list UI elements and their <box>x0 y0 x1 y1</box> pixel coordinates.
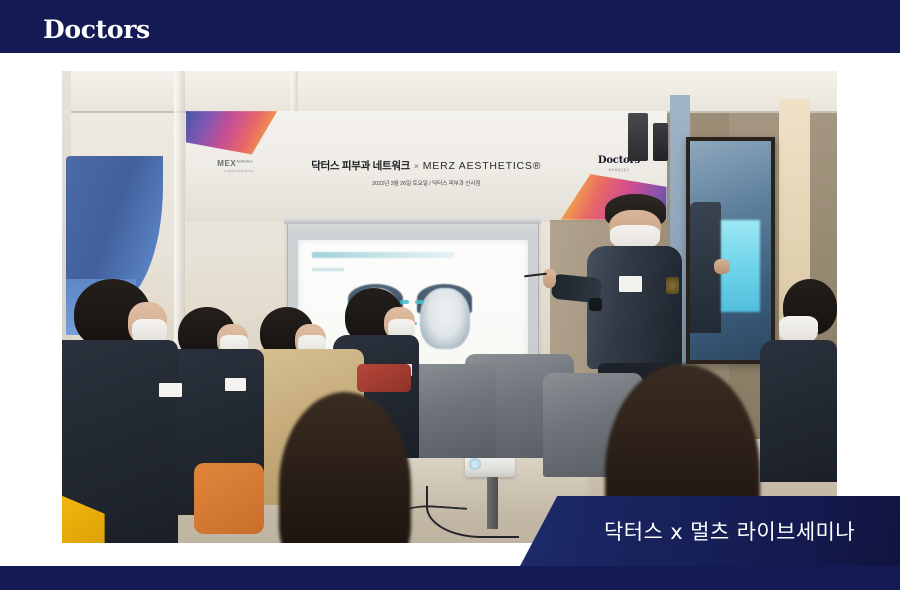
audience-name-badge <box>225 378 247 391</box>
slide-marker-2 <box>415 300 424 303</box>
page-root: Doctors MEXAesthetics by MERZ AESTHETI <box>0 0 900 590</box>
brand-logo[interactable]: Doctors <box>43 17 150 42</box>
site-header: Doctors <box>0 0 900 53</box>
backdrop-doctors-logo-tag: 피부과네트워크 <box>598 168 640 172</box>
presenter-watch <box>589 298 602 312</box>
seminar-photo: MEXAesthetics by MERZ AESTHETICS 닥터스 피부과… <box>62 71 837 543</box>
backdrop-gradient-art-left <box>186 111 277 154</box>
slide-subtitle-line <box>312 268 344 271</box>
caption-title: 닥터스 x 멀츠 라이브세미나 <box>604 516 855 546</box>
backdrop-title: 닥터스 피부과 네트워크×MERZ AESTHETICS® <box>186 158 667 173</box>
backdrop-title-x: × <box>414 161 419 171</box>
slide-face-right <box>420 288 471 349</box>
backdrop-subtitle: 2022년 3월 26일 토요일 / 닥터스 피부과 신사점 <box>186 179 667 187</box>
photo-scene: MEXAesthetics by MERZ AESTHETICS 닥터스 피부과… <box>62 71 837 543</box>
slide-marker-1 <box>400 300 409 303</box>
audience-orange-bag <box>194 463 264 534</box>
presenter-sleeve-patch <box>666 277 679 293</box>
wall-display-panel <box>686 137 775 364</box>
projection-screen-roller <box>284 217 541 224</box>
footer-strip <box>0 566 900 590</box>
display-reflection-hand <box>714 259 730 274</box>
wall-speaker-right <box>653 123 669 161</box>
caption-banner: 닥터스 x 멀츠 라이브세미나 <box>520 496 900 566</box>
backdrop-title-partner: MERZ AESTHETICS® <box>423 160 542 172</box>
audience-torso <box>760 340 838 482</box>
audience-red-item <box>357 364 411 392</box>
backdrop-title-main: 닥터스 피부과 네트워크 <box>311 160 410 172</box>
audience-name-badge <box>159 383 182 397</box>
wall-speaker-left <box>628 113 648 160</box>
presenter-name-badge <box>619 276 642 292</box>
slide-title-line <box>312 252 455 258</box>
